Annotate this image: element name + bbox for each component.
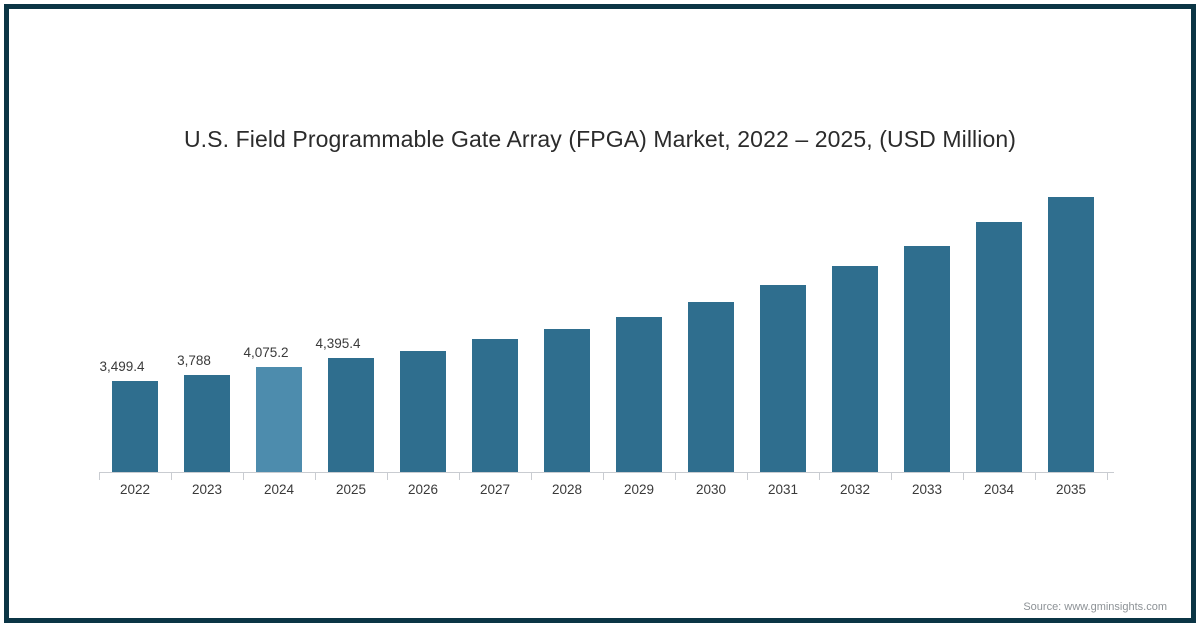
bar-group-2029	[603, 185, 675, 473]
bar-group-2032	[819, 185, 891, 473]
x-axis-labels: 2022202320242025202620272028202920302031…	[99, 482, 1114, 504]
bar-group-2025: 4,395.4	[315, 185, 387, 473]
x-axis-line	[99, 472, 1114, 473]
x-tick-label-2027: 2027	[459, 482, 531, 497]
bar-group-2024: 4,075.2	[243, 185, 315, 473]
bar-2033[interactable]	[904, 246, 950, 473]
bar-2034[interactable]	[976, 222, 1022, 473]
x-axis-tick	[387, 473, 388, 480]
x-tick-label-2026: 2026	[387, 482, 459, 497]
bar-group-2022: 3,499.4	[99, 185, 171, 473]
x-axis-tick	[171, 473, 172, 480]
bar-group-2033	[891, 185, 963, 473]
x-axis-tick	[747, 473, 748, 480]
bar-group-2027	[459, 185, 531, 473]
x-axis-tick	[675, 473, 676, 480]
plot-area: 3,499.43,7884,075.24,395.4	[99, 185, 1114, 473]
source-credit: Source: www.gminsights.com	[1023, 601, 1167, 613]
bar-2022[interactable]	[112, 381, 158, 473]
bar-2035[interactable]	[1048, 197, 1094, 473]
x-tick-label-2025: 2025	[315, 482, 387, 497]
bar-group-2034	[963, 185, 1035, 473]
x-axis-tick	[243, 473, 244, 480]
x-tick-label-2028: 2028	[531, 482, 603, 497]
x-axis-tick	[531, 473, 532, 480]
x-axis-tick	[963, 473, 964, 480]
bar-2030[interactable]	[688, 302, 734, 473]
x-axis-tick	[1107, 473, 1108, 480]
bar-value-label-2024: 4,075.2	[231, 345, 301, 360]
bar-2028[interactable]	[544, 329, 590, 473]
x-tick-label-2032: 2032	[819, 482, 891, 497]
bar-2027[interactable]	[472, 339, 518, 473]
bar-2029[interactable]	[616, 317, 662, 473]
bar-2023[interactable]	[184, 375, 230, 473]
bar-group-2023: 3,788	[171, 185, 243, 473]
x-tick-label-2034: 2034	[963, 482, 1035, 497]
bar-2025[interactable]	[328, 358, 374, 473]
bar-2026[interactable]	[400, 351, 446, 473]
x-tick-label-2030: 2030	[675, 482, 747, 497]
bar-2031[interactable]	[760, 285, 806, 473]
x-axis-tick	[891, 473, 892, 480]
bar-value-label-2022: 3,499.4	[87, 359, 157, 374]
x-tick-label-2022: 2022	[99, 482, 171, 497]
chart-figure: U.S. Field Programmable Gate Array (FPGA…	[0, 0, 1200, 627]
bar-group-2028	[531, 185, 603, 473]
x-axis-tick	[819, 473, 820, 480]
x-tick-label-2035: 2035	[1035, 482, 1107, 497]
x-axis-tick	[1035, 473, 1036, 480]
bar-group-2030	[675, 185, 747, 473]
x-axis-tick	[459, 473, 460, 480]
bar-value-label-2025: 4,395.4	[303, 336, 373, 351]
x-tick-label-2033: 2033	[891, 482, 963, 497]
x-axis-tick	[99, 473, 100, 480]
x-tick-label-2024: 2024	[243, 482, 315, 497]
bar-2032[interactable]	[832, 266, 878, 473]
bar-group-2026	[387, 185, 459, 473]
bar-group-2035	[1035, 185, 1107, 473]
bar-value-label-2023: 3,788	[159, 353, 229, 368]
x-tick-label-2023: 2023	[171, 482, 243, 497]
bar-group-2031	[747, 185, 819, 473]
x-axis-tick	[315, 473, 316, 480]
x-tick-label-2029: 2029	[603, 482, 675, 497]
bar-2024[interactable]	[256, 367, 302, 473]
x-axis-tick	[603, 473, 604, 480]
x-tick-label-2031: 2031	[747, 482, 819, 497]
page-title: U.S. Field Programmable Gate Array (FPGA…	[0, 126, 1200, 153]
